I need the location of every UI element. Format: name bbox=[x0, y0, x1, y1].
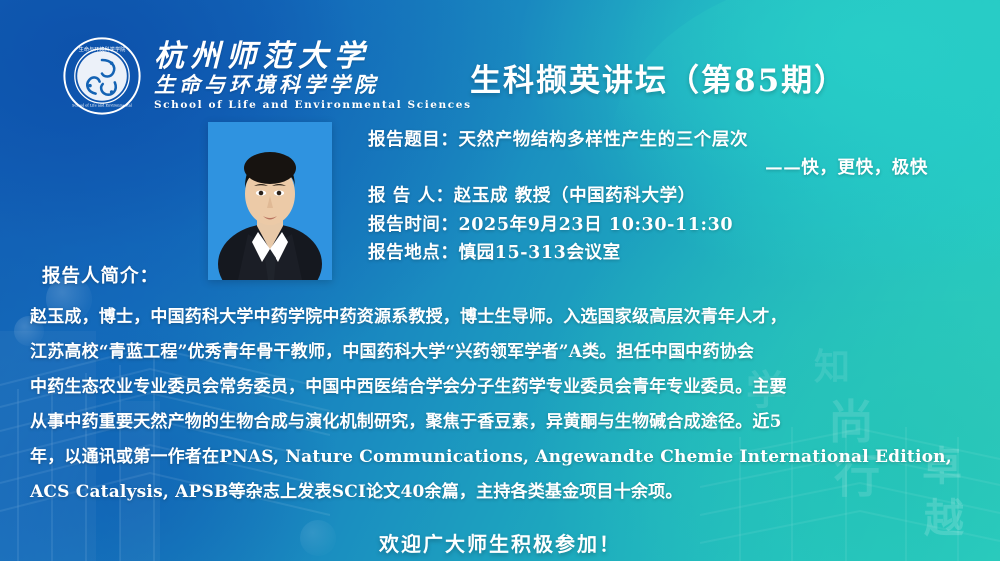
bio-line: 从事中药重要天然产物的生物合成与演化机制研究，聚焦于香豆素，异黄酮与生物碱合成途… bbox=[30, 405, 978, 440]
place-line: 报告地点：慎园15-313会议室 bbox=[368, 239, 968, 267]
bio-line: 年，以通讯或第一作者在PNAS, Nature Communications, … bbox=[30, 440, 978, 475]
welcome-message: 欢迎广大师生积极参加！ bbox=[0, 528, 1000, 557]
speaker-line: 报 告 人：赵玉成 教授（中国药科大学） bbox=[368, 182, 968, 210]
bio-line: 赵玉成，博士，中国药科大学中药学院中药资源系教授，博士生导师。入选国家级高层次青… bbox=[30, 300, 978, 335]
speaker-bio: 赵玉成，博士，中国药科大学中药学院中药资源系教授，博士生导师。入选国家级高层次青… bbox=[30, 300, 978, 510]
seminar-info: 报告题目：天然产物结构多样性产生的三个层次 ——快，更快，极快 报 告 人：赵玉… bbox=[368, 126, 968, 267]
page-title: 生科撷英讲坛（第85期） bbox=[470, 55, 920, 100]
bio-line: 中药生态农业专业委员会常务委员，中国中西医结合学会分子生药学专业委员会青年专业委… bbox=[30, 370, 978, 405]
university-name-block: 杭州师范大学 生命与环境科学学院 School of Life and Envi… bbox=[154, 41, 472, 110]
bio-line: 江苏高校“青蓝工程”优秀青年骨干教师，中国药科大学“兴药领军学者”A类。担任中国… bbox=[30, 335, 978, 370]
speaker-portrait-image bbox=[208, 122, 332, 280]
college-name-en: School of Life and Environmental Science… bbox=[154, 99, 472, 111]
seminar-poster: 卓 越 尚 行 学 知 生命与环境科学学院 bbox=[0, 0, 1000, 561]
topic-line: 报告题目：天然产物结构多样性产生的三个层次 bbox=[368, 126, 968, 154]
svg-text:生命与环境科学学院: 生命与环境科学学院 bbox=[79, 45, 127, 53]
poster-header: 生命与环境科学学院 School of Life and Environment… bbox=[0, 0, 1000, 118]
university-name-cn: 杭州师范大学 bbox=[154, 41, 472, 72]
college-name-cn: 生命与环境科学学院 bbox=[154, 73, 472, 97]
university-emblem-icon: 生命与环境科学学院 School of Life and Environment… bbox=[62, 36, 142, 116]
time-line: 报告时间：2025年9月23日 10:30-11:30 bbox=[368, 211, 968, 239]
speaker-photo bbox=[208, 122, 332, 280]
university-logo: 生命与环境科学学院 School of Life and Environment… bbox=[62, 36, 472, 116]
svg-text:School of Life and Environment: School of Life and Environmental bbox=[72, 103, 133, 107]
topic-subtitle: ——快，更快，极快 bbox=[368, 154, 968, 182]
bio-line: ACS Catalysis, APSB等杂志上发表SCI论文40余篇，主持各类基… bbox=[30, 475, 978, 510]
bio-label: 报告人简介： bbox=[42, 262, 159, 288]
